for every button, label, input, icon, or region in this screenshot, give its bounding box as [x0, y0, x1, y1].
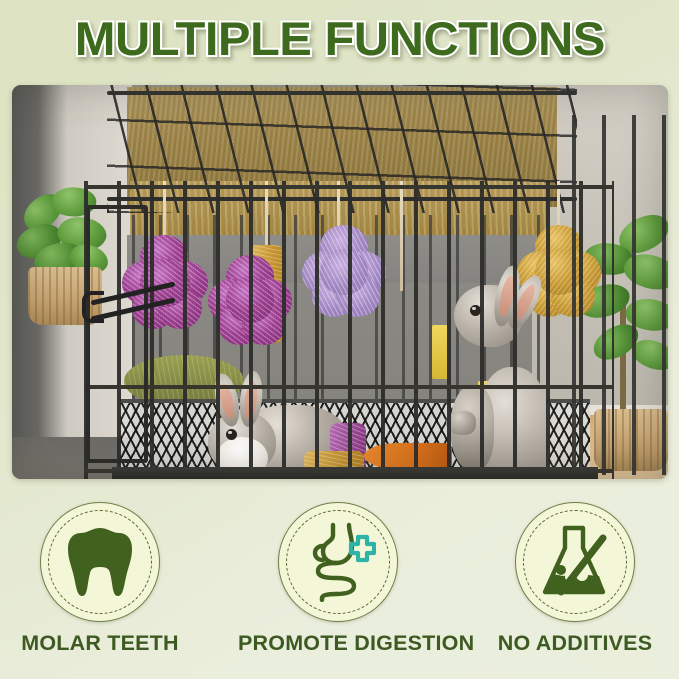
cage-front-bars: [84, 181, 614, 479]
cage-rail: [107, 91, 577, 95]
cage-horizontal-rail: [84, 185, 614, 189]
feature-label: MOLAR TEETH: [0, 631, 200, 656]
feature-list: MOLAR TEETH PROMOTE DIGE: [0, 496, 679, 666]
product-photo: [12, 85, 668, 479]
feature-label: PROMOTE DIGESTION: [238, 631, 438, 656]
page-title-container: MULTIPLE FUNCTIONS: [0, 14, 679, 64]
cage-floor-front-rail: [112, 467, 598, 479]
cage-horizontal-rail: [84, 385, 614, 389]
feature-label: NO ADDITIVES: [475, 631, 675, 656]
cage-right-bars: [572, 115, 668, 475]
cage-door-frame: [86, 205, 148, 463]
feature-molar-teeth[interactable]: MOLAR TEETH: [0, 502, 200, 656]
flask-no-additives-icon: [537, 524, 613, 600]
medical-cross-icon: [351, 537, 374, 560]
feature-icon-circle: [278, 502, 398, 622]
tooth-icon: [64, 524, 136, 600]
feature-no-additives[interactable]: NO ADDITIVES: [475, 502, 675, 656]
page-title: MULTIPLE FUNCTIONS: [74, 14, 604, 64]
stomach-digestion-icon: [300, 522, 376, 602]
bubble: [556, 565, 566, 575]
infographic-page: MULTIPLE FUNCTIONS: [0, 0, 679, 679]
feature-icon-circle: [515, 502, 635, 622]
feature-promote-digestion[interactable]: PROMOTE DIGESTION: [238, 502, 438, 656]
feature-icon-circle: [40, 502, 160, 622]
